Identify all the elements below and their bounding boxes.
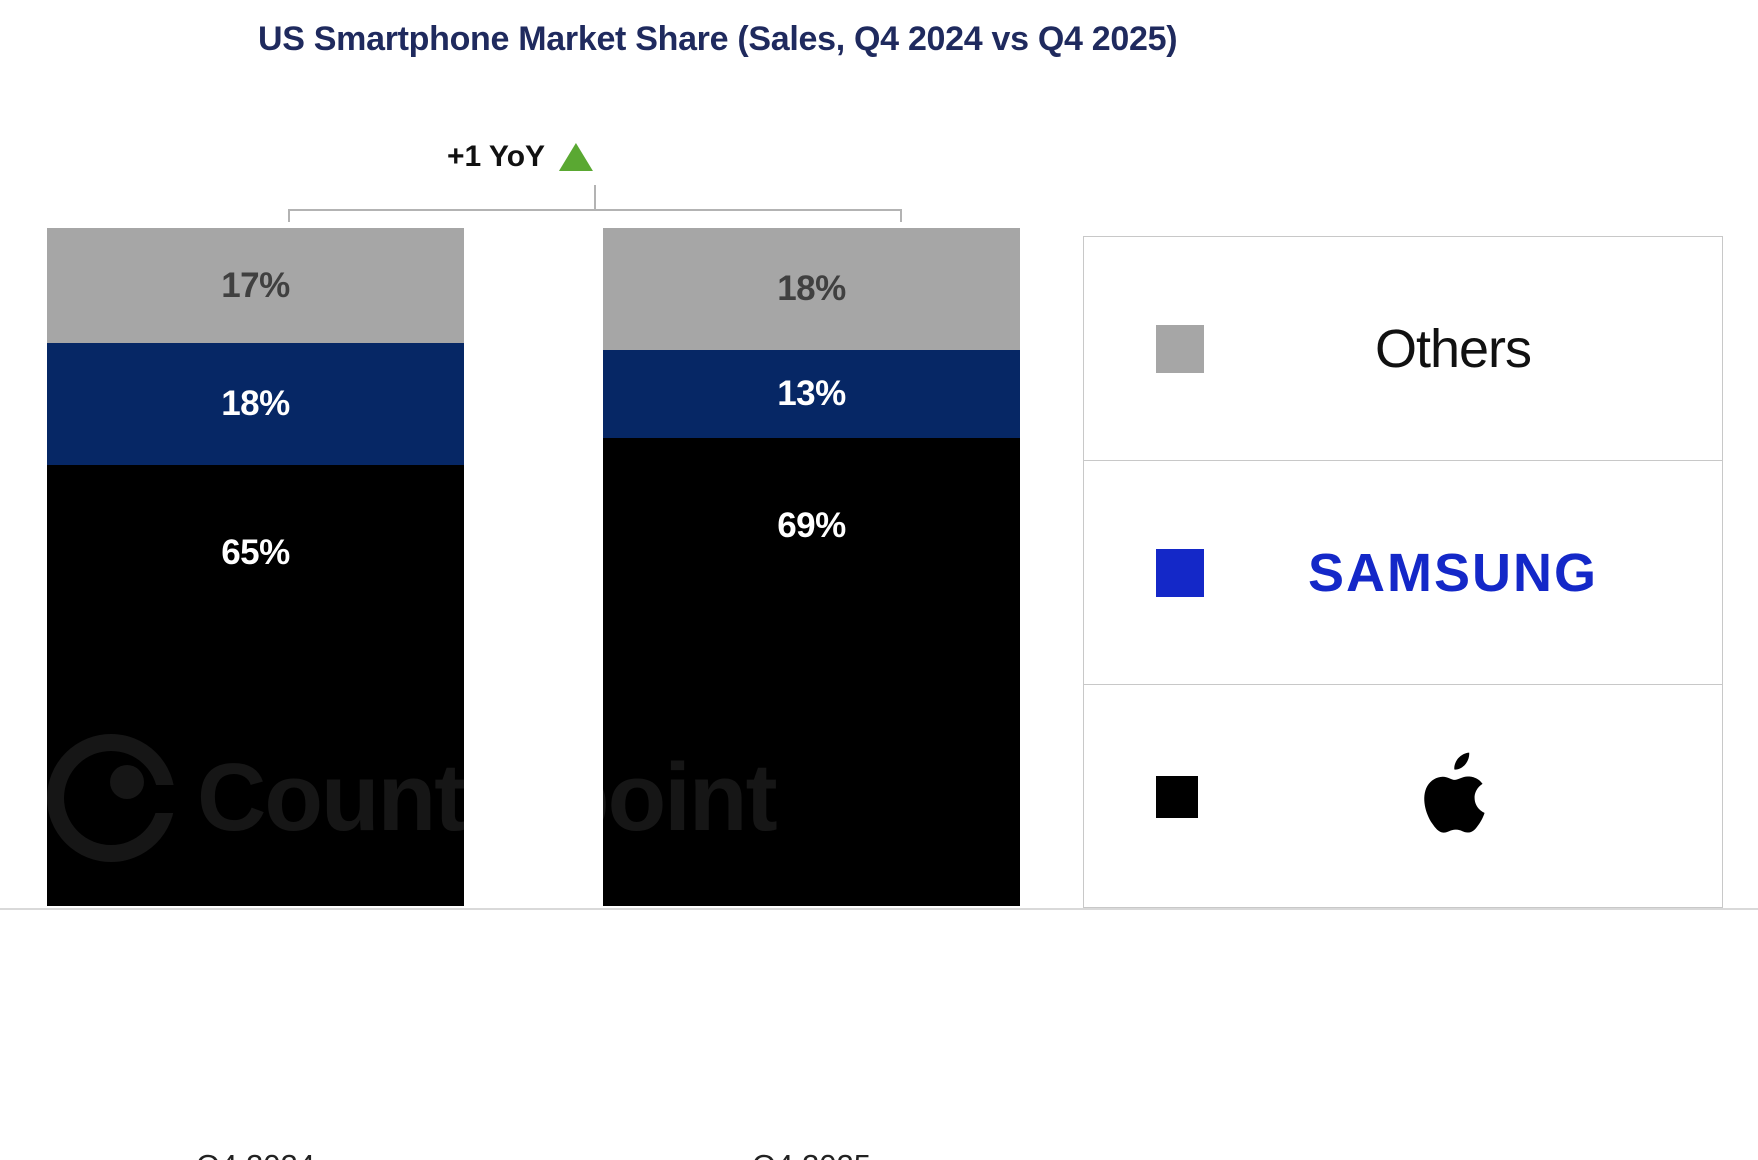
segment-label: 18% (777, 269, 846, 309)
legend-item-apple[interactable] (1084, 685, 1722, 909)
x-axis-labels: Q4 2024 Q4 2025 (0, 1148, 1180, 1160)
bracket-bar (288, 209, 902, 211)
yoy-bracket (288, 185, 902, 233)
legend-swatch-apple-icon (1156, 776, 1198, 818)
segment-label: 69% (777, 506, 846, 546)
legend-label-wrap (1198, 748, 1722, 847)
x-axis-label: Q4 2025 (603, 1148, 1020, 1160)
legend: Others SAMSUNG (1083, 236, 1723, 908)
segment-label: 18% (221, 384, 290, 424)
x-axis-label: Q4 2024 (47, 1148, 464, 1160)
bar-column-q4-2024: 17% 18% 65% (47, 228, 464, 906)
legend-item-samsung[interactable]: SAMSUNG (1084, 461, 1722, 685)
plot-area: 17% 18% 65% 18% 13% 69% Counterpoint (0, 228, 1180, 908)
segment-label: 65% (221, 533, 290, 573)
legend-label-others: Others (1375, 319, 1531, 379)
bracket-tick-left (288, 209, 290, 222)
bar-column-q4-2025: 18% 13% 69% (603, 228, 1020, 906)
bracket-tick-right (900, 209, 902, 222)
legend-label-samsung: SAMSUNG (1308, 543, 1598, 603)
bar-segment-samsung[interactable]: 13% (603, 350, 1020, 438)
segment-label: 13% (777, 374, 846, 414)
bar-segment-others[interactable]: 17% (47, 228, 464, 343)
bar-segment-samsung[interactable]: 18% (47, 343, 464, 465)
bar-segment-apple[interactable]: 69% (603, 438, 1020, 906)
legend-item-others[interactable]: Others (1084, 237, 1722, 461)
bar-segment-apple[interactable]: 65% (47, 465, 464, 906)
legend-label-wrap: Others (1204, 318, 1722, 380)
segment-label: 17% (221, 266, 290, 306)
legend-swatch-others-icon (1156, 325, 1204, 373)
up-triangle-icon (559, 143, 593, 171)
page-title: US Smartphone Market Share (Sales, Q4 20… (258, 20, 1177, 59)
yoy-annotation: +1 YoY (447, 140, 593, 174)
yoy-label: +1 YoY (447, 140, 545, 174)
chart-page: US Smartphone Market Share (Sales, Q4 20… (0, 0, 1758, 1160)
legend-swatch-samsung-icon (1156, 549, 1204, 597)
legend-label-wrap: SAMSUNG (1204, 542, 1722, 604)
bracket-stem (594, 185, 596, 210)
bar-segment-others[interactable]: 18% (603, 228, 1020, 350)
apple-logo-icon (1411, 748, 1489, 847)
